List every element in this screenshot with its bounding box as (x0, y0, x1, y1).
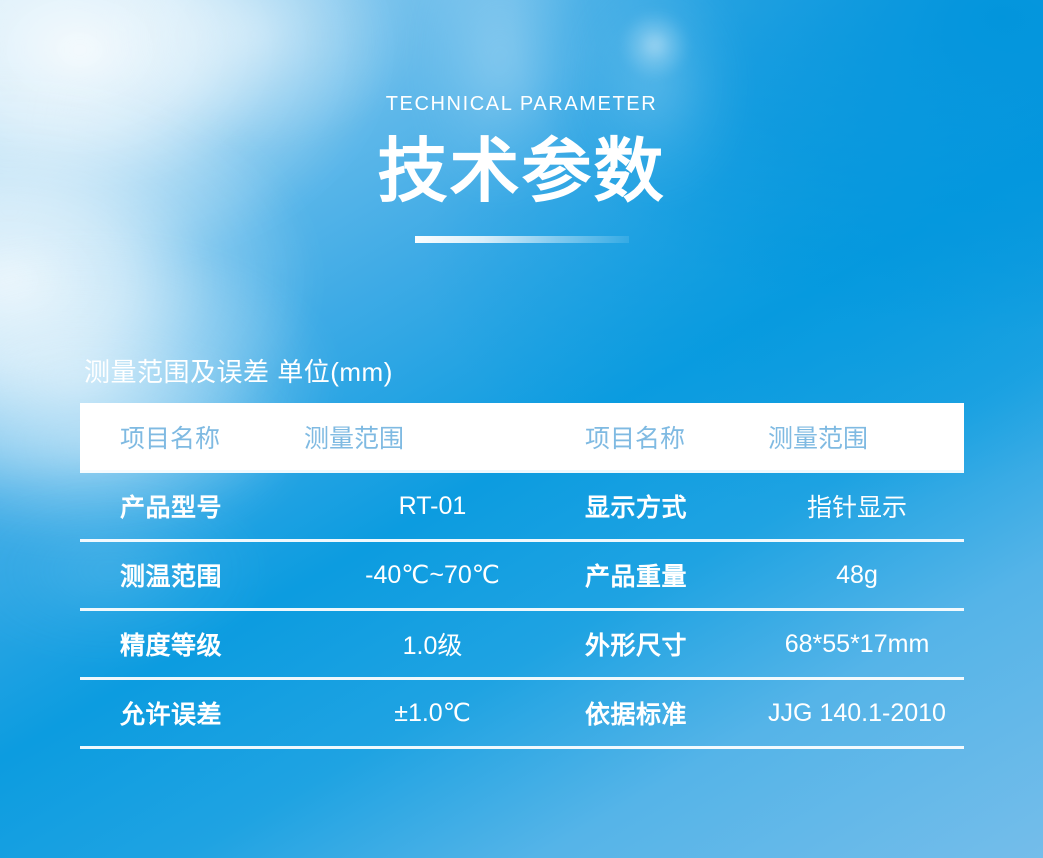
hero-header: TECHNICAL PARAMETER 技术参数 (0, 0, 1043, 243)
page-title: 技术参数 (0, 136, 1043, 206)
row-label-left: 允许误差 (80, 695, 280, 731)
row-value-right: 68*55*17mm (750, 630, 964, 659)
row-value-right: 48g (750, 561, 964, 590)
row-value-left: RT-01 (280, 492, 585, 521)
table-header-row: 项目名称 测量范围 项目名称 测量范围 (80, 403, 964, 470)
row-divider (80, 746, 964, 749)
row-label-right: 产品重量 (585, 557, 750, 593)
column-header-item-name-right: 项目名称 (585, 419, 750, 455)
table-row: 测温范围 -40℃~70℃ 产品重量 48g (80, 542, 964, 608)
column-header-range-left: 测量范围 (280, 419, 585, 455)
row-label-left: 精度等级 (80, 626, 280, 662)
spec-caption: 测量范围及误差 单位(mm) (84, 352, 393, 389)
row-value-left: -40℃~70℃ (280, 560, 585, 590)
technical-parameter-page: TECHNICAL PARAMETER 技术参数 测量范围及误差 单位(mm) … (0, 0, 1043, 858)
row-label-right: 依据标准 (585, 695, 750, 731)
spec-table: 项目名称 测量范围 项目名称 测量范围 产品型号 RT-01 显示方式 指针显示… (80, 403, 964, 749)
table-row: 允许误差 ±1.0℃ 依据标准 JJG 140.1-2010 (80, 680, 964, 746)
row-label-right: 显示方式 (585, 488, 750, 524)
column-header-range-right: 测量范围 (750, 419, 964, 455)
row-value-left: 1.0级 (280, 626, 585, 662)
row-label-left: 产品型号 (80, 488, 280, 524)
table-row: 精度等级 1.0级 外形尺寸 68*55*17mm (80, 611, 964, 677)
row-value-left: ±1.0℃ (280, 698, 585, 728)
title-underline-rule (415, 236, 629, 243)
column-header-item-name-left: 项目名称 (80, 419, 280, 455)
hero-kicker: TECHNICAL PARAMETER (0, 94, 1043, 114)
row-value-right: 指针显示 (750, 488, 964, 524)
row-value-right: JJG 140.1-2010 (750, 699, 964, 728)
table-row: 产品型号 RT-01 显示方式 指针显示 (80, 473, 964, 539)
row-label-right: 外形尺寸 (585, 626, 750, 662)
row-label-left: 测温范围 (80, 557, 280, 593)
